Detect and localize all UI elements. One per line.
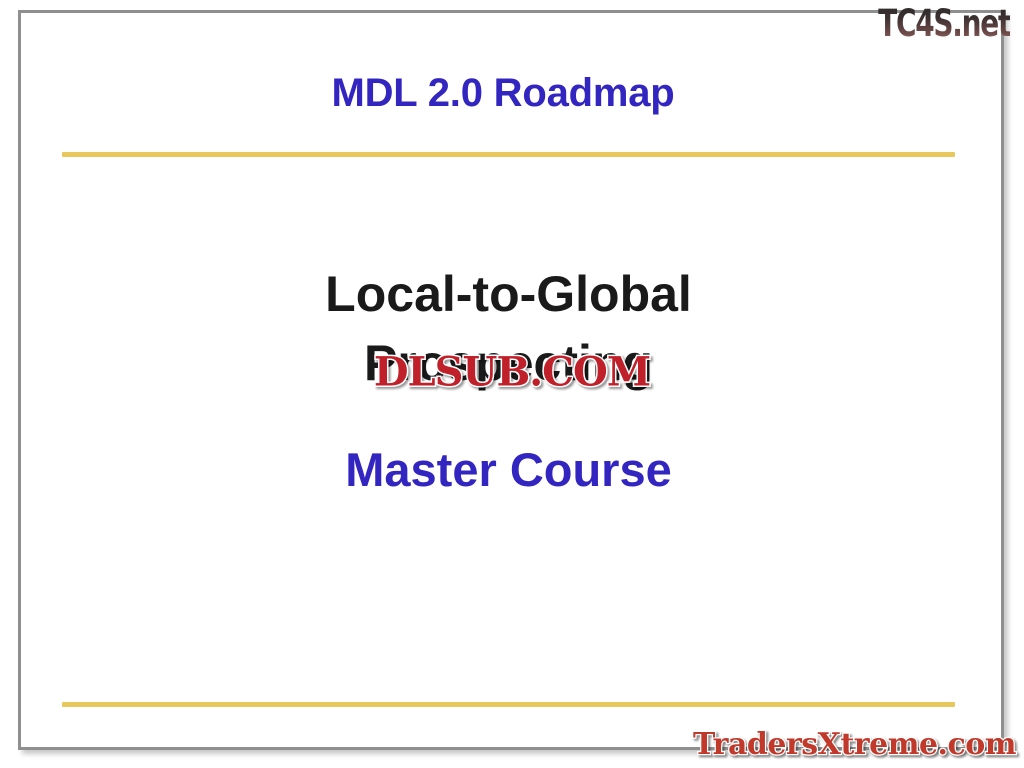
slide-root: MDL 2.0 Roadmap Local-to-Global Prospect… bbox=[0, 0, 1024, 768]
body-line-primary: Local-to-Global bbox=[62, 260, 955, 329]
body-spacer bbox=[62, 398, 955, 442]
page-title: MDL 2.0 Roadmap bbox=[50, 70, 956, 116]
watermark-tc4s: TC4S.net bbox=[878, 2, 1010, 45]
watermark-tradersxtreme: TradersXtreme.com bbox=[693, 727, 1016, 762]
divider-bottom bbox=[62, 702, 955, 707]
slide-subtitle: Master Course bbox=[62, 442, 955, 498]
watermark-center-overlay: DLSUB.COM bbox=[374, 349, 650, 396]
divider-top bbox=[62, 152, 955, 157]
